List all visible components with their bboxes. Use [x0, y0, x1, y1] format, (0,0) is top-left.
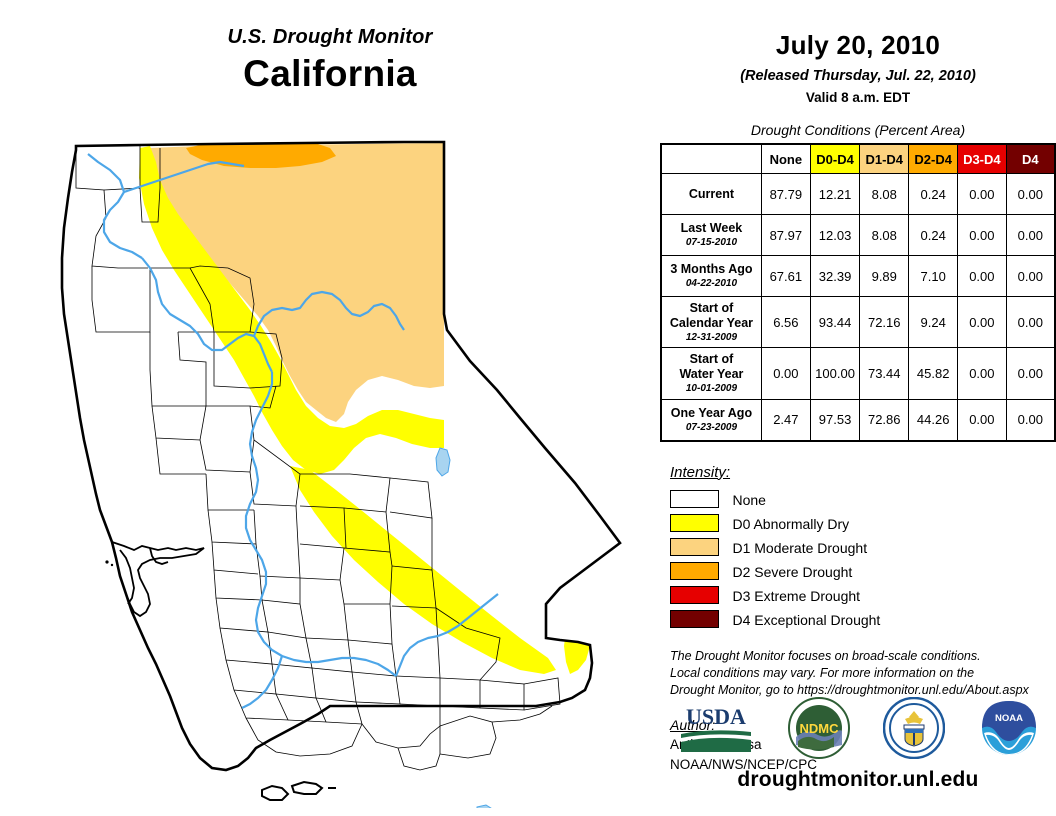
legend-item-d1: D1 Moderate Drought — [670, 536, 866, 560]
valid-time: Valid 8 a.m. EDT — [660, 90, 1056, 105]
table-row: Start ofWater Year10-01-20090.00100.0073… — [661, 348, 1055, 399]
cell-r5-c0: 2.47 — [761, 399, 810, 441]
row-sublabel-2: 04-22-2010 — [665, 278, 758, 290]
table-corner-cell — [661, 144, 761, 174]
cell-r1-c3: 0.24 — [909, 215, 958, 256]
cell-r2-c4: 0.00 — [958, 256, 1006, 297]
row-sublabel-5: 07-23-2009 — [665, 422, 758, 434]
legend-column-left: None D0 Abnormally Dry D1 Moderate Droug… — [670, 488, 866, 560]
drought-region-d0-colorado — [564, 618, 590, 674]
cell-r2-c0: 67.61 — [761, 256, 810, 297]
disclaimer-line-2: Local conditions may vary. For more info… — [670, 665, 1056, 682]
row-sublabel-3: 12-31-2009 — [665, 332, 758, 344]
cell-r3-c2: 72.16 — [860, 297, 909, 348]
map-panel: U.S. Drought Monitor California — [0, 0, 660, 816]
table-row: Current87.7912.218.080.240.000.00 — [661, 174, 1055, 215]
valid-date: July 20, 2010 — [660, 30, 1056, 61]
cell-r1-c0: 87.97 — [761, 215, 810, 256]
legend-label-d1: D1 Moderate Drought — [732, 540, 867, 556]
row-label-0: Current — [661, 174, 761, 215]
cell-r4-c1: 100.00 — [810, 348, 859, 399]
cell-r5-c2: 72.86 — [860, 399, 909, 441]
page-title: California — [0, 53, 660, 95]
row-label-5: One Year Ago07-23-2009 — [661, 399, 761, 441]
swatch-d4-icon — [670, 610, 719, 628]
row-label-3: Start ofCalendar Year12-31-2009 — [661, 297, 761, 348]
legend-column-right: D2 Severe Drought D3 Extreme Drought D4 … — [670, 560, 880, 632]
date-block: July 20, 2010 (Released Thursday, Jul. 2… — [660, 0, 1056, 105]
col-header-d2: D2-D4 — [909, 144, 958, 174]
california-drought-map[interactable] — [0, 118, 660, 808]
cell-r4-c3: 45.82 — [909, 348, 958, 399]
col-header-d0: D0-D4 — [810, 144, 859, 174]
row-label-2: 3 Months Ago04-22-2010 — [661, 256, 761, 297]
row-label-4: Start ofWater Year10-01-2009 — [661, 348, 761, 399]
drought-region-d0-sierra — [290, 466, 556, 674]
cell-r3-c4: 0.00 — [958, 297, 1006, 348]
col-header-none: None — [761, 144, 810, 174]
map-supertitle: U.S. Drought Monitor — [0, 26, 660, 49]
legend-label-d3: D3 Extreme Drought — [732, 588, 860, 604]
swatch-none-icon — [670, 490, 719, 508]
cell-r4-c5: 0.00 — [1006, 348, 1055, 399]
legend-heading: Intensity: — [670, 464, 1056, 481]
usda-logo: USDA — [677, 700, 755, 756]
legend-label-d0: D0 Abnormally Dry — [732, 516, 849, 532]
noaa-logo: NOAA — [978, 697, 1040, 759]
ndmc-logo: NDMC — [788, 697, 850, 759]
legend-item-d2: D2 Severe Drought — [670, 560, 880, 584]
cell-r0-c0: 87.79 — [761, 174, 810, 215]
row-label-1: Last Week07-15-2010 — [661, 215, 761, 256]
salton-sea — [477, 805, 508, 808]
legend-label-none: None — [732, 492, 765, 508]
table-caption: Drought Conditions (Percent Area) — [660, 122, 1056, 138]
offshore-rock — [105, 560, 108, 563]
cell-r3-c5: 0.00 — [1006, 297, 1055, 348]
legend-item-none: None — [670, 488, 866, 512]
svg-text:USDA: USDA — [686, 704, 746, 729]
cell-r5-c3: 44.26 — [909, 399, 958, 441]
cell-r4-c0: 0.00 — [761, 348, 810, 399]
cell-r1-c2: 8.08 — [860, 215, 909, 256]
logo-row: USDA NDMC — [660, 688, 1056, 768]
swatch-d0-icon — [670, 514, 719, 532]
col-header-d4: D4 — [1006, 144, 1055, 174]
row-sublabel-1: 07-15-2010 — [665, 237, 758, 249]
disclaimer-line-1: The Drought Monitor focuses on broad-sca… — [670, 648, 1056, 665]
offshore-rock — [111, 564, 113, 566]
cell-r3-c3: 9.24 — [909, 297, 958, 348]
table-row: 3 Months Ago04-22-201067.6132.399.897.10… — [661, 256, 1055, 297]
swatch-d2-icon — [670, 562, 719, 580]
cell-r4-c2: 73.44 — [860, 348, 909, 399]
cell-r0-c4: 0.00 — [958, 174, 1006, 215]
svg-text:NDMC: NDMC — [799, 721, 839, 736]
swatch-d1-icon — [670, 538, 719, 556]
cell-r0-c3: 0.24 — [909, 174, 958, 215]
cell-r3-c1: 93.44 — [810, 297, 859, 348]
cell-r1-c5: 0.00 — [1006, 215, 1055, 256]
intensity-legend: None D0 Abnormally Dry D1 Moderate Droug… — [670, 488, 1042, 632]
legend-label-d4: D4 Exceptional Drought — [732, 612, 880, 628]
cell-r1-c1: 12.03 — [810, 215, 859, 256]
table-header-row: None D0-D4 D1-D4 D2-D4 D3-D4 D4 — [661, 144, 1055, 174]
cell-r0-c1: 12.21 — [810, 174, 859, 215]
lake-tahoe — [436, 448, 450, 476]
legend-label-d2: D2 Severe Drought — [732, 564, 852, 580]
col-header-d1: D1-D4 — [860, 144, 909, 174]
cell-r5-c4: 0.00 — [958, 399, 1006, 441]
table-row: Start ofCalendar Year12-31-20096.5693.44… — [661, 297, 1055, 348]
legend-item-d0: D0 Abnormally Dry — [670, 512, 866, 536]
cell-r2-c2: 9.89 — [860, 256, 909, 297]
drought-monitor-url[interactable]: droughtmonitor.unl.edu — [660, 768, 1056, 792]
cell-r0-c2: 8.08 — [860, 174, 909, 215]
cell-r1-c4: 0.00 — [958, 215, 1006, 256]
row-sublabel-4: 10-01-2009 — [665, 383, 758, 395]
commerce-seal-logo — [883, 697, 945, 759]
table-row: One Year Ago07-23-20092.4797.5372.8644.2… — [661, 399, 1055, 441]
cell-r2-c5: 0.00 — [1006, 256, 1055, 297]
san-francisco-bay — [112, 542, 204, 616]
table-row: Last Week07-15-201087.9712.038.080.240.0… — [661, 215, 1055, 256]
col-header-d3: D3-D4 — [958, 144, 1006, 174]
cell-r5-c1: 97.53 — [810, 399, 859, 441]
legend-item-d4: D4 Exceptional Drought — [670, 608, 880, 632]
cell-r2-c1: 32.39 — [810, 256, 859, 297]
right-panel: July 20, 2010 (Released Thursday, Jul. 2… — [660, 0, 1056, 816]
drought-conditions-table: None D0-D4 D1-D4 D2-D4 D3-D4 D4 Current8… — [660, 143, 1056, 442]
cell-r0-c5: 0.00 — [1006, 174, 1055, 215]
legend-item-d3: D3 Extreme Drought — [670, 584, 880, 608]
swatch-d3-icon — [670, 586, 719, 604]
cell-r2-c3: 7.10 — [909, 256, 958, 297]
cell-r4-c4: 0.00 — [958, 348, 1006, 399]
drought-shading-layer — [139, 140, 590, 674]
cell-r3-c0: 6.56 — [761, 297, 810, 348]
release-date: (Released Thursday, Jul. 22, 2010) — [660, 68, 1056, 84]
map-title-block: U.S. Drought Monitor California — [0, 26, 660, 95]
svg-text:NOAA: NOAA — [995, 713, 1023, 724]
table-body: Current87.7912.218.080.240.000.00Last We… — [661, 174, 1055, 441]
channel-islands — [262, 782, 374, 808]
cell-r5-c5: 0.00 — [1006, 399, 1055, 441]
